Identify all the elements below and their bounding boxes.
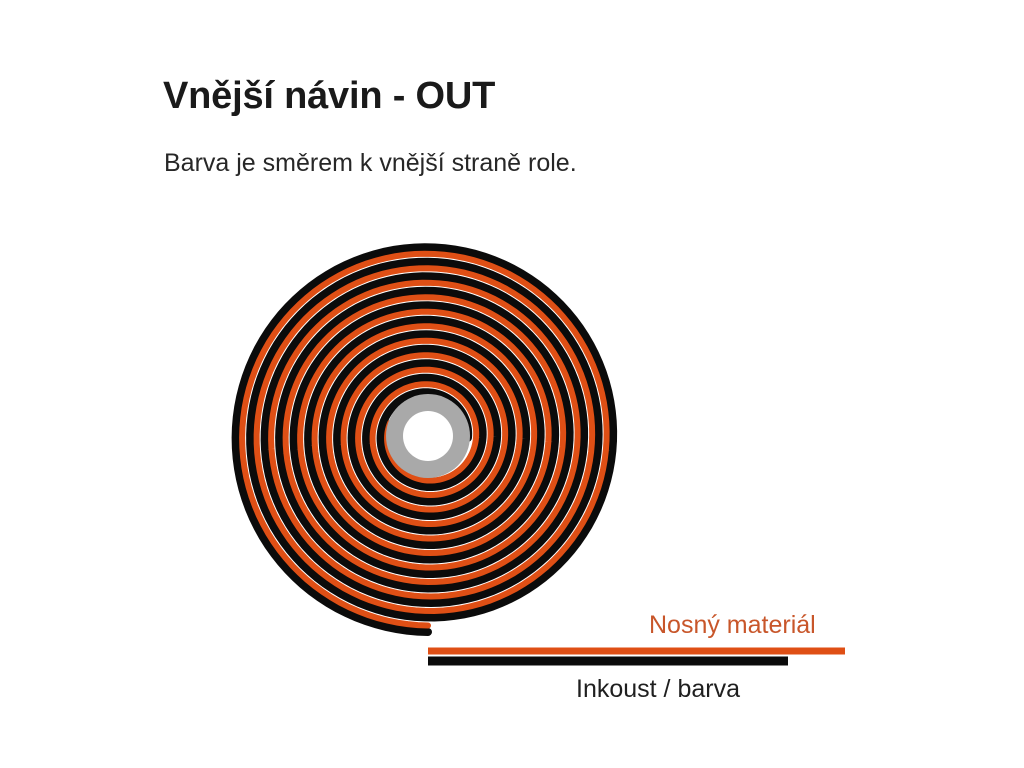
core-hole [403,411,453,461]
slide-canvas: Vnější návin - OUT Barva je směrem k vně… [0,0,1024,768]
tail-carrier-stripe [428,648,845,655]
label-ink-color: Inkoust / barva [576,675,740,704]
roll-tail [428,648,845,666]
page-subtitle: Barva je směrem k vnější straně role. [164,149,577,178]
page-title: Vnější návin - OUT [163,75,495,118]
roll-core [386,394,470,478]
tail-ink-stripe [428,657,788,666]
label-carrier-material: Nosný materiál [649,611,816,640]
